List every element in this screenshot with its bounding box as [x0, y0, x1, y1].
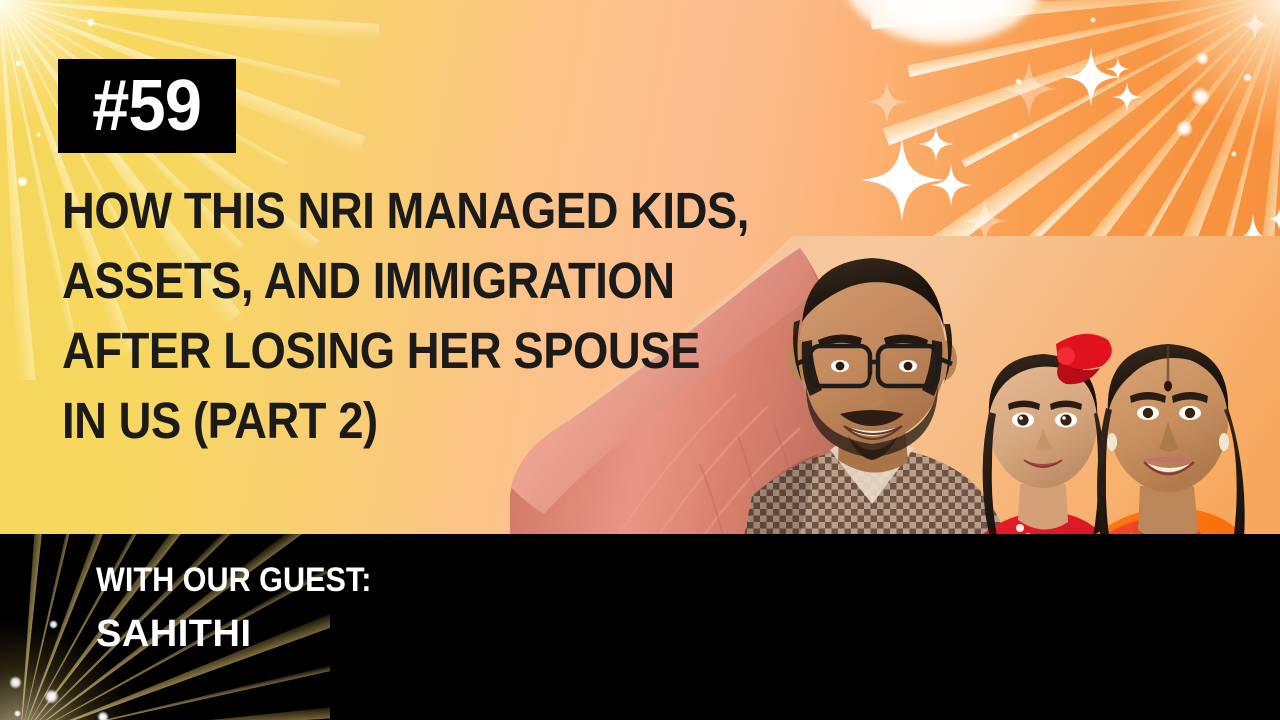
guest-banner-band: WITH OUR GUEST: SAHITHI — [0, 534, 1280, 720]
page-title: HOW THIS NRI MANAGED KIDS, ASSETS, AND I… — [62, 176, 822, 456]
guest-block: WITH OUR GUEST: SAHITHI — [96, 554, 402, 662]
guest-label: WITH OUR GUEST: — [96, 554, 371, 606]
title-line-4: IN US (PART 2) — [62, 386, 738, 456]
guest-name: SAHITHI — [96, 606, 402, 662]
bokeh-dot — [44, 689, 59, 704]
bokeh-dot — [99, 714, 105, 720]
title-line-3: AFTER LOSING HER SPOUSE — [62, 316, 738, 386]
bokeh-dot — [9, 676, 22, 689]
title-line-1: HOW THIS NRI MANAGED KIDS, — [62, 176, 738, 246]
bokeh-dot — [49, 620, 58, 629]
episode-number: #59 — [93, 70, 202, 142]
bokeh-dot — [97, 711, 109, 720]
bokeh-dot — [14, 710, 21, 717]
thumbnail-canvas: WITH OUR GUEST: SAHITHI #59 HOW THIS NRI… — [0, 0, 1280, 720]
episode-badge: #59 — [58, 59, 236, 153]
title-line-2: ASSETS, AND IMMIGRATION — [62, 246, 738, 316]
